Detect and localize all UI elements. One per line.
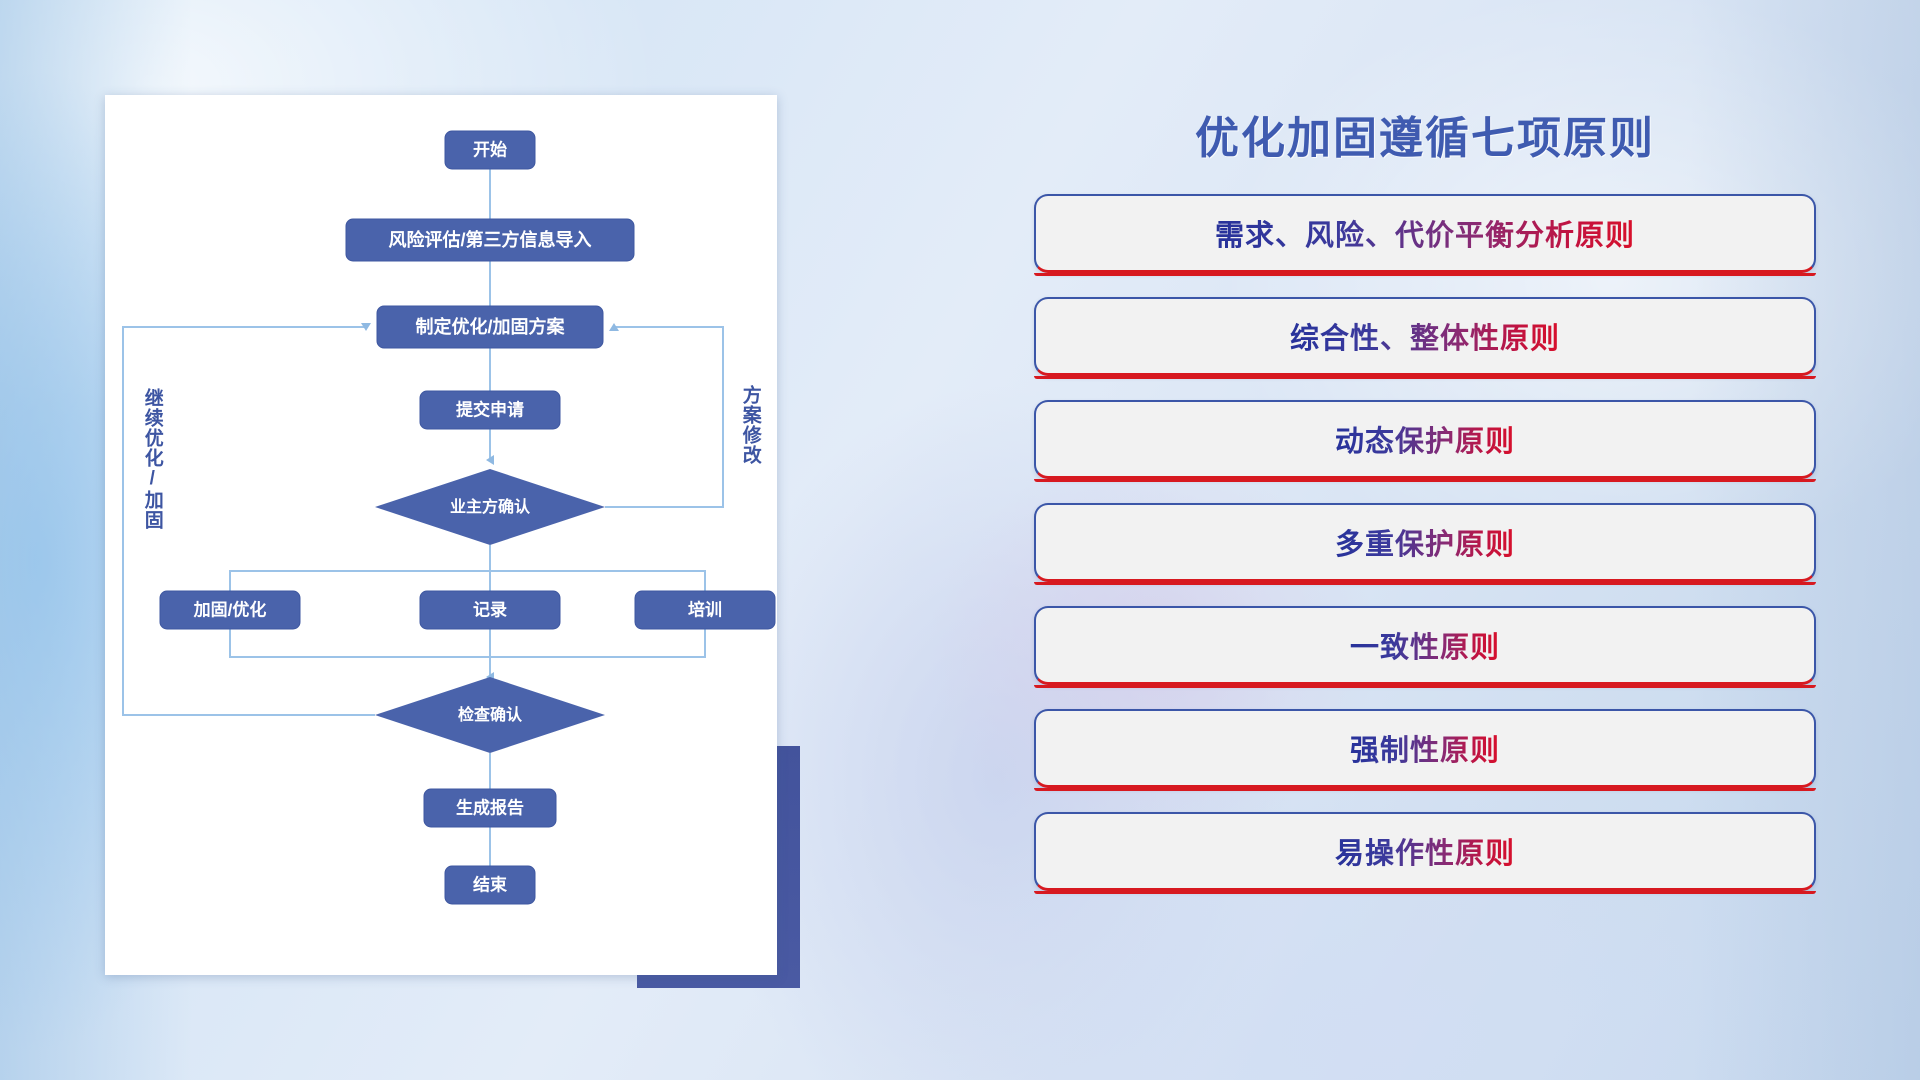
flow-node-risk-assessment[interactable]: 风险评估/第三方信息导入 [346, 219, 634, 261]
edge-train-to-check [490, 629, 705, 657]
flow-node-submit[interactable]: 提交申请 [420, 391, 560, 429]
flow-node-report-label: 生成报告 [456, 797, 524, 817]
edge-label-continue-optimize: 继续优化/加固 [142, 388, 162, 530]
flow-node-check-confirm-label: 检查确认 [458, 705, 523, 724]
flow-node-reinforce-label: 加固/优化 [193, 599, 267, 619]
flow-node-end-label: 结束 [473, 874, 507, 894]
principle-label: 一致性原则 [1350, 624, 1500, 666]
flow-node-end[interactable]: 结束 [445, 866, 535, 904]
flow-node-training-label: 培训 [688, 599, 722, 619]
flow-node-report[interactable]: 生成报告 [424, 789, 556, 827]
flow-node-plan[interactable]: 制定优化/加固方案 [377, 306, 603, 348]
principle-item-3[interactable]: 动态保护原则 [1034, 400, 1816, 479]
edge-reinforce-to-check [230, 629, 490, 657]
flowchart-svg: 开始 风险评估/第三方信息导入 制定优化/加固方案 提交申请 业主方确认 [105, 95, 777, 975]
flow-node-submit-label: 提交申请 [456, 399, 524, 419]
flow-node-owner-confirm-label: 业主方确认 [450, 497, 531, 516]
flow-node-reinforce[interactable]: 加固/优化 [160, 591, 300, 629]
principle-label: 需求、风险、代价平衡分析原则 [1215, 212, 1635, 254]
flowchart-nodes: 开始 风险评估/第三方信息导入 制定优化/加固方案 提交申请 业主方确认 [160, 131, 775, 904]
principle-label: 多重保护原则 [1335, 521, 1515, 563]
principle-item-7[interactable]: 易操作性原则 [1034, 812, 1816, 891]
flow-node-plan-label: 制定优化/加固方案 [415, 316, 565, 337]
principle-item-1[interactable]: 需求、风险、代价平衡分析原则 [1034, 194, 1816, 273]
page-title: 优化加固遵循七项原则 [1010, 102, 1840, 166]
flow-node-risk-assessment-label: 风险评估/第三方信息导入 [389, 229, 592, 250]
flowchart-card: 开始 风险评估/第三方信息导入 制定优化/加固方案 提交申请 业主方确认 [105, 95, 777, 975]
edge-label-plan-revision: 方案修改 [740, 385, 760, 465]
principles-panel: 优化加固遵循七项原则 需求、风险、代价平衡分析原则 综合性、整体性原则 动态保护… [1010, 80, 1840, 1010]
principle-label: 综合性、整体性原则 [1290, 315, 1560, 357]
edge-owner-to-plan-revise [605, 327, 723, 507]
flow-node-record[interactable]: 记录 [420, 591, 560, 629]
principle-item-4[interactable]: 多重保护原则 [1034, 503, 1816, 582]
principle-label: 易操作性原则 [1335, 830, 1515, 872]
flow-node-record-label: 记录 [473, 600, 507, 619]
flow-node-owner-confirm[interactable]: 业主方确认 [375, 469, 605, 545]
principle-item-5[interactable]: 一致性原则 [1034, 606, 1816, 685]
flow-node-start[interactable]: 开始 [445, 131, 535, 169]
flow-node-check-confirm[interactable]: 检查确认 [375, 677, 605, 753]
principle-label: 动态保护原则 [1335, 418, 1515, 460]
principle-item-6[interactable]: 强制性原则 [1034, 709, 1816, 788]
principle-item-2[interactable]: 综合性、整体性原则 [1034, 297, 1816, 376]
flow-node-start-label: 开始 [473, 139, 507, 159]
principle-label: 强制性原则 [1350, 727, 1500, 769]
flow-node-training[interactable]: 培训 [635, 591, 775, 629]
